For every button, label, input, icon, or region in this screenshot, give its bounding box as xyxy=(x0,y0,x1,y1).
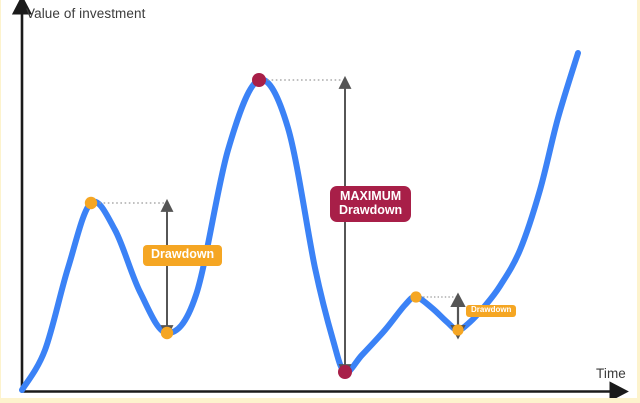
chart-canvas: Value of investment Time Drawdown MAXIMU… xyxy=(0,0,640,403)
maximum-drawdown-peak-marker xyxy=(252,73,266,87)
x-axis-title: Time xyxy=(596,366,626,381)
maximum-drawdown-label-line1: MAXIMUM xyxy=(339,190,402,204)
maximum-drawdown-label-line2: Drawdown xyxy=(339,204,402,218)
drawdown-3-peak-marker xyxy=(410,291,421,302)
drawdown-1-peak-marker xyxy=(85,197,97,209)
drawdown-chart-svg xyxy=(0,0,640,403)
drawdown-3-trough-marker xyxy=(452,324,463,335)
drawdown-1-label: Drawdown xyxy=(143,245,222,266)
investment-value-line xyxy=(22,53,578,390)
maximum-drawdown-trough-marker xyxy=(338,365,352,379)
axes xyxy=(21,12,612,392)
y-axis-title: Value of investment xyxy=(26,6,145,21)
maximum-drawdown-annotation xyxy=(252,73,352,379)
maximum-drawdown-label: MAXIMUM Drawdown xyxy=(330,186,411,222)
drawdown-3-label: Drawdown xyxy=(466,305,516,317)
drawdown-1-trough-marker xyxy=(161,327,173,339)
